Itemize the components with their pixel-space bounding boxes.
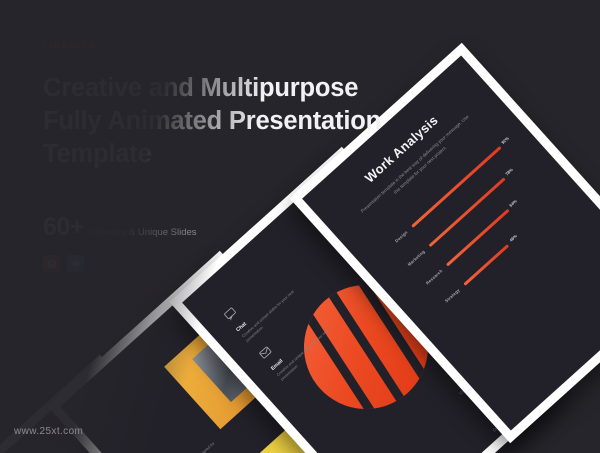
- bar-track: 46%: [463, 197, 561, 286]
- bar-fill: [428, 177, 505, 247]
- keynote-icon[interactable]: [67, 255, 84, 272]
- stage-text-block: Stage 03 Creative and unique slides desi…: [154, 430, 226, 453]
- bar-value-label: 78%: [504, 167, 514, 176]
- bar-category-label: Design: [383, 225, 414, 253]
- bar-fill: [463, 244, 509, 286]
- keynote-glyph: [71, 259, 81, 269]
- screenshot-canvas: Stage 03 Creative and unique slides desi…: [0, 0, 600, 453]
- bar-value-label: 92%: [500, 135, 510, 144]
- bar-category-label: Strategy: [435, 283, 466, 311]
- headline-line-3: Template: [43, 138, 383, 171]
- powerpoint-glyph: [47, 259, 57, 269]
- powerpoint-icon[interactable]: [43, 255, 60, 272]
- headline-line-2: Fully Animated Presentation: [43, 105, 383, 138]
- bar-category-label: Research: [418, 264, 449, 292]
- chat-icon: [221, 305, 239, 323]
- slide-count-caption: Creative & Unique Slides: [91, 227, 197, 238]
- headline-line-1: Creative and Multipurpose: [43, 72, 383, 105]
- bar-value-label: 64%: [508, 198, 518, 207]
- page-title: Creative and Multipurpose Fully Animated…: [43, 72, 383, 171]
- slide-count: 60+: [43, 213, 84, 242]
- hero-copy: FIREBIRD Creative and Multipurpose Fully…: [43, 40, 383, 272]
- brand-eyebrow: FIREBIRD: [43, 40, 383, 50]
- slide-count-row: 60+ Creative & Unique Slides: [43, 213, 383, 242]
- email-icon: [256, 343, 274, 361]
- format-badges: [43, 255, 383, 272]
- bar-category-label: Marketing: [400, 244, 431, 272]
- site-watermark: www.25xt.com: [14, 426, 83, 437]
- bar-value-label: 46%: [508, 233, 518, 242]
- bar-fill: [446, 209, 510, 267]
